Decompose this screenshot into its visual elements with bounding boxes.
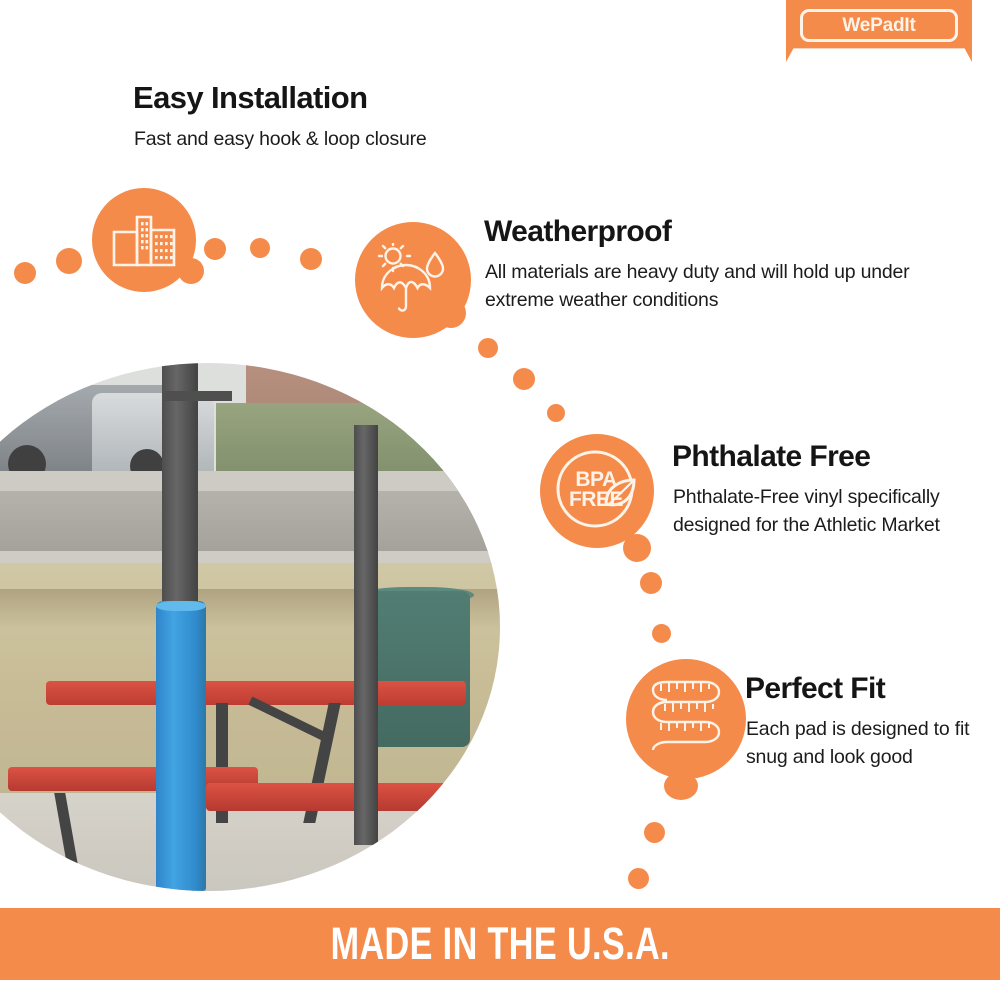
icon-blob-install <box>178 258 204 284</box>
icon-blob-bpa <box>623 534 651 562</box>
feature-title-phthalate-free: Phthalate Free <box>672 440 870 474</box>
feature-title-perfect-fit: Perfect Fit <box>745 672 885 706</box>
logo-outline: WePadIt <box>800 9 958 42</box>
feature-title-weatherproof: Weatherproof <box>484 215 671 249</box>
trail-dot <box>628 868 649 889</box>
bpa-line-1: BPA <box>568 470 624 490</box>
icon-blob-weather <box>436 298 466 328</box>
trail-dot <box>14 262 36 284</box>
made-in-usa-banner: MADE IN THE U.S.A. <box>0 908 1000 980</box>
feature-description-easy-installation: Fast and easy hook & loop closure <box>134 125 427 153</box>
bpa-free-text: BPA FREE <box>568 470 624 510</box>
trail-dot <box>547 404 565 422</box>
logo-text: WePadIt <box>842 15 915 37</box>
photo-overlay <box>0 363 500 891</box>
made-in-usa-text: MADE IN THE U.S.A. <box>330 918 669 970</box>
trail-dot <box>478 338 498 358</box>
trail-dot <box>250 238 270 258</box>
product-photo <box>0 363 500 891</box>
bpa-free-leaf-icon: BPA FREE <box>540 434 654 548</box>
bpa-line-2: FREE <box>568 490 624 510</box>
feature-title-easy-installation: Easy Installation <box>133 80 367 116</box>
measuring-tape-icon <box>626 659 746 779</box>
trail-dot <box>652 624 671 643</box>
feature-description-phthalate-free: Phthalate-Free vinyl specifically design… <box>673 483 943 540</box>
trail-dot <box>56 248 82 274</box>
feature-description-perfect-fit: Each pad is designed to fit snug and loo… <box>746 715 976 772</box>
feature-description-weatherproof: All materials are heavy duty and will ho… <box>485 258 915 315</box>
icon-blob-fit <box>664 772 698 800</box>
trail-dot <box>300 248 322 270</box>
trail-dot <box>640 572 662 594</box>
brand-logo-banner: WePadIt <box>786 0 972 62</box>
trail-dot <box>513 368 535 390</box>
trail-dot <box>204 238 226 260</box>
infographic-page: WePadIt Easy Installation Fast and easy … <box>0 0 1000 987</box>
trail-dot <box>644 822 665 843</box>
